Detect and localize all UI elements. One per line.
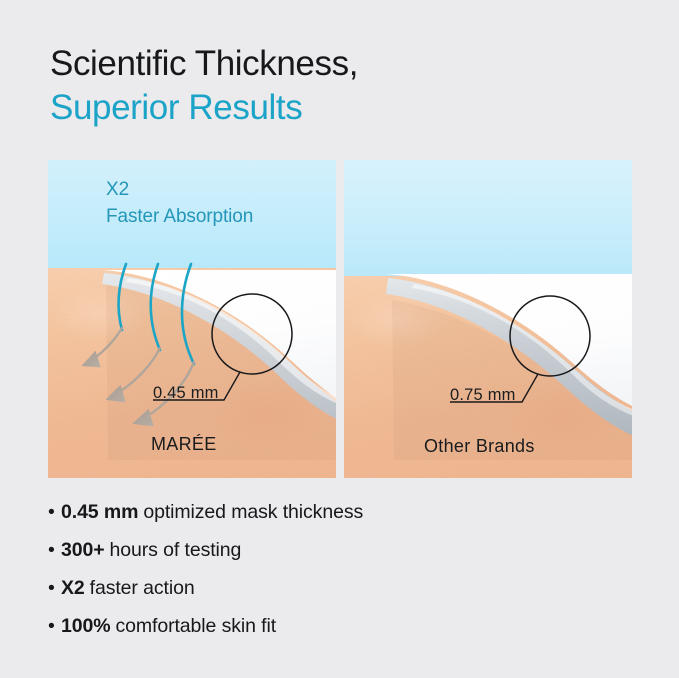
- brand-label-maree: MARÉE: [151, 434, 217, 455]
- bullet-text: faster action: [90, 576, 195, 600]
- bullet-text: optimized mask thickness: [143, 500, 363, 524]
- brand-label-other-brands: Other Brands: [424, 436, 535, 457]
- absorption-badge-subtitle: Faster Absorption: [106, 203, 253, 230]
- list-item: • 300+ hours of testing: [48, 538, 628, 562]
- absorption-badge-title: X2: [106, 176, 253, 203]
- page-title-line-1: Scientific Thickness,: [50, 42, 630, 86]
- page-title-line-2: Superior Results: [50, 86, 630, 130]
- thickness-label-other-brands: 0.75 mm: [450, 386, 516, 405]
- bullet-dot-icon: •: [48, 576, 61, 600]
- panel-other-brands-illustration: [344, 160, 632, 478]
- panel-other-brands: 0.75 mm Other Brands: [344, 160, 632, 478]
- bullet-dot-icon: •: [48, 614, 61, 638]
- bullet-highlight: 0.45 mm: [61, 500, 138, 524]
- bullet-highlight: 100%: [61, 614, 110, 638]
- bullet-dot-icon: •: [48, 538, 61, 562]
- page-title: Scientific Thickness, Superior Results: [50, 42, 630, 130]
- absorption-badge: X2 Faster Absorption: [106, 176, 253, 230]
- list-item: • 0.45 mm optimized mask thickness: [48, 500, 628, 524]
- bullet-text: hours of testing: [110, 538, 242, 562]
- bullet-highlight: X2: [61, 576, 85, 600]
- bullet-text: comfortable skin fit: [115, 614, 276, 638]
- list-item: • X2 faster action: [48, 576, 628, 600]
- list-item: • 100% comfortable skin fit: [48, 614, 628, 638]
- bullet-dot-icon: •: [48, 500, 61, 524]
- panel-maree: X2 Faster Absorption 0.45 mm MARÉE: [48, 160, 336, 478]
- benefits-list: • 0.45 mm optimized mask thickness • 300…: [48, 500, 628, 652]
- comparison-panels: X2 Faster Absorption 0.45 mm MARÉE: [48, 160, 632, 478]
- bullet-highlight: 300+: [61, 538, 105, 562]
- absorption-arrow-head-1: [84, 353, 99, 366]
- thickness-label-maree: 0.45 mm: [153, 384, 219, 403]
